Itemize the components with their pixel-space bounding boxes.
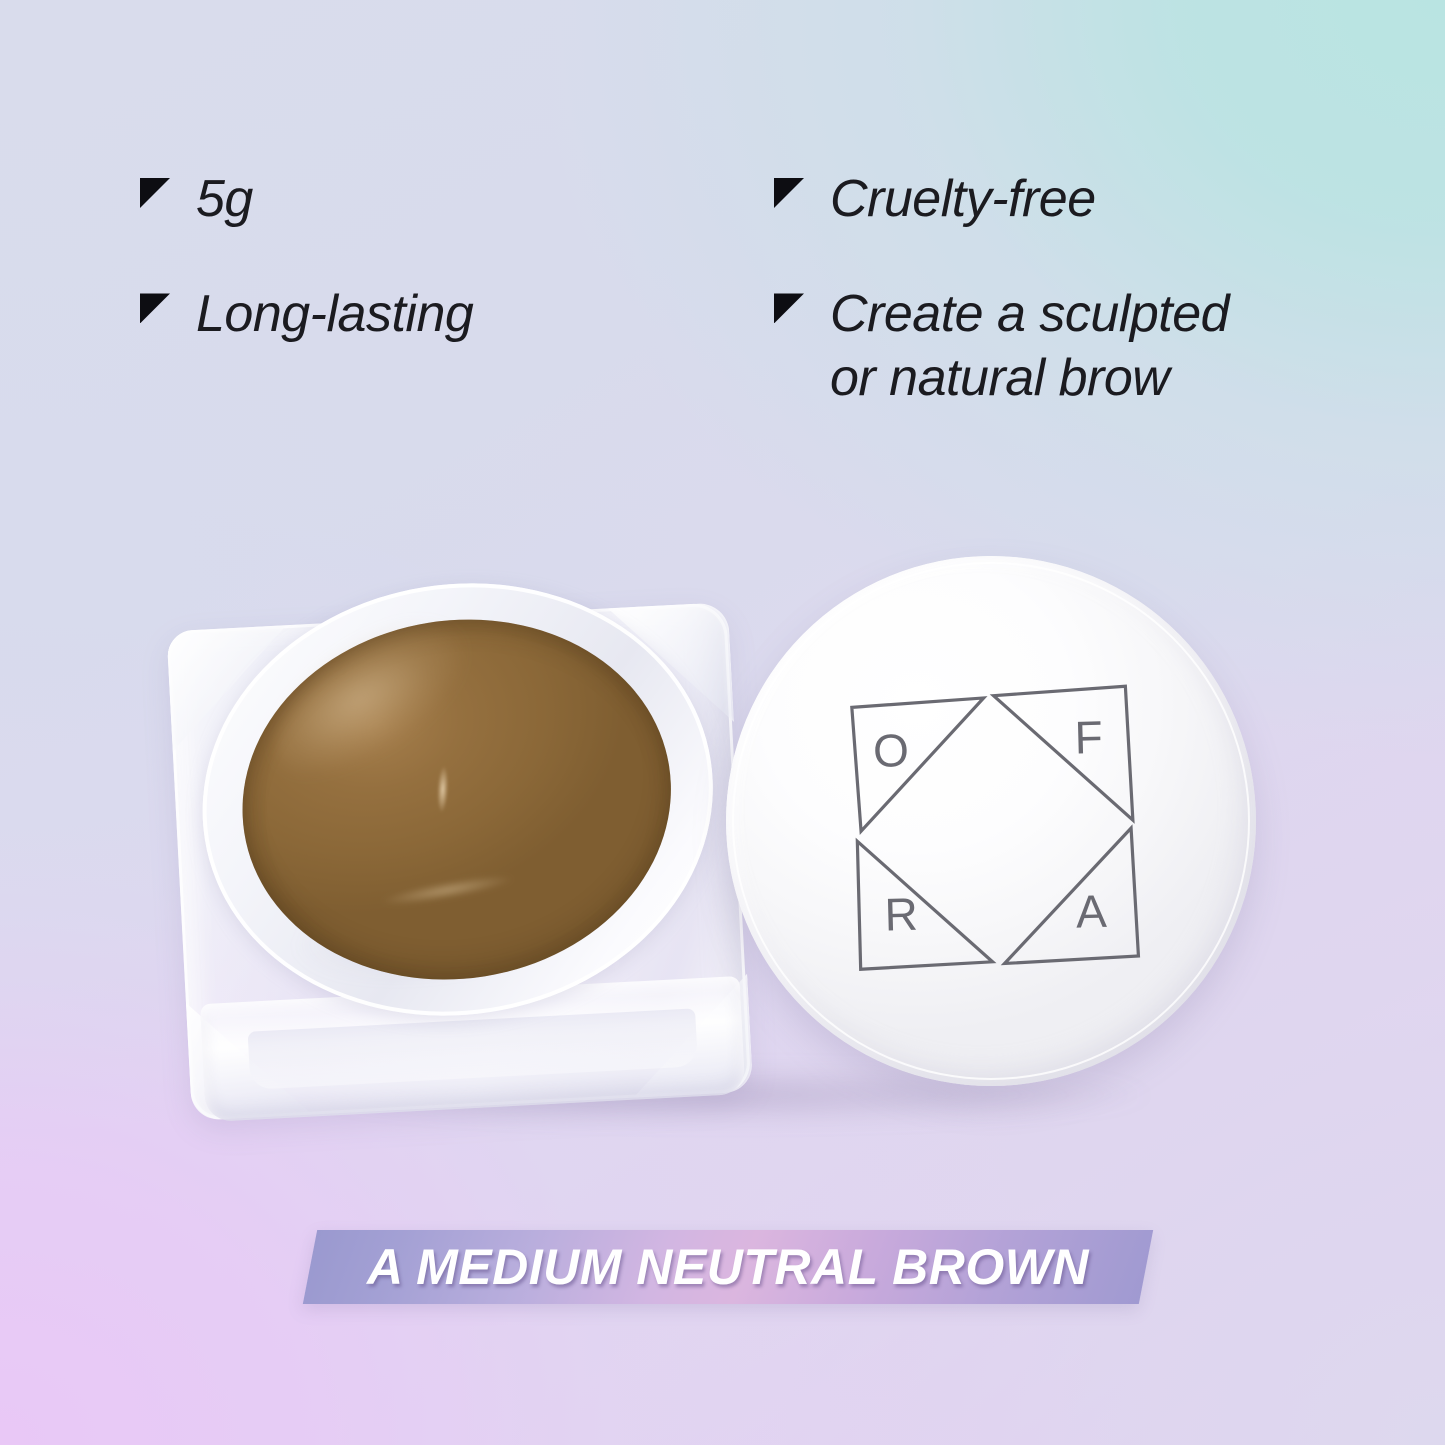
triangle-bullet-icon — [774, 293, 804, 323]
jar-lid: O F R A — [726, 556, 1256, 1086]
feature-column-right: Cruelty-free Create a sculpted or natura… — [774, 168, 1294, 462]
feature-column-left: 5g Long-lasting — [140, 168, 700, 399]
triangle-bullet-icon — [140, 293, 170, 323]
feature-item-size: 5g — [140, 168, 700, 231]
ofra-four-triangle-logo: O F R A — [837, 678, 1144, 976]
triangle-bullet-icon — [140, 178, 170, 208]
logo-letter-o: O — [872, 724, 909, 777]
product-photo: O F R A — [0, 520, 1445, 1140]
pomade-jar — [160, 560, 780, 1120]
logo-letter-a: A — [1075, 885, 1107, 938]
feature-label: Long-lasting — [196, 283, 473, 346]
feature-label: 5g — [196, 168, 253, 231]
triangle-bullet-icon — [774, 178, 804, 208]
feature-label: Cruelty-free — [830, 168, 1096, 231]
feature-label: Create a sculpted or natural brow — [830, 283, 1229, 410]
feature-item-cruelty-free: Cruelty-free — [774, 168, 1294, 231]
logo-letter-f: F — [1074, 711, 1103, 764]
shade-banner-background — [303, 1230, 1153, 1304]
product-infographic-canvas: 5g Long-lasting Cruelty-free Create a sc… — [0, 0, 1445, 1445]
feature-item-sculpted-brow: Create a sculpted or natural brow — [774, 283, 1294, 410]
feature-item-long-lasting: Long-lasting — [140, 283, 700, 346]
logo-letter-r: R — [884, 888, 919, 941]
jar-body — [155, 563, 782, 1124]
